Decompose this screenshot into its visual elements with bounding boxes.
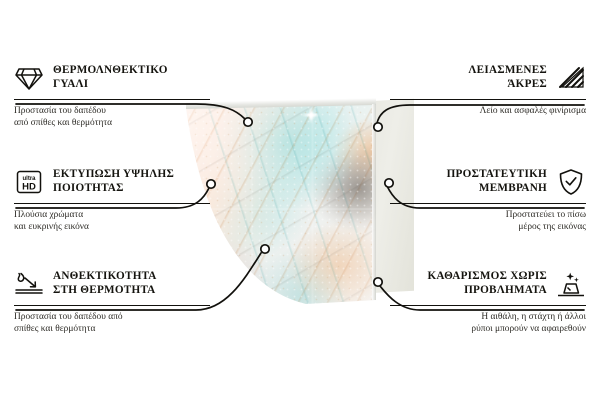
feature-header: ΑΝΘΕΚΤΙΚΟΤΗΤΑ ΣΤΗ ΘΕΡΜΟΤΗΤΑ — [14, 268, 210, 300]
feature-divider — [14, 99, 210, 100]
feature-description: Λείο και ασφαλές φινίρισμα — [390, 106, 586, 118]
feature-block-high-quality-print: ultra HD ΕΚΤΥΠΩΣΗ ΥΨΗΛΗΣ ΠΟΙΟΤΗΤΑΣ Πλούσ… — [14, 166, 210, 233]
feature-block-heat-resistant-glass: ΘΕΡΜΟΛΝΘΕΚΤΙΚΟ ΓΥΑΛΙ Προστασία του δαπέδ… — [14, 62, 210, 129]
panel-right-edge — [372, 104, 376, 300]
sponge-sparkle-icon — [556, 269, 586, 299]
feature-block-easy-cleaning: ΚΑΘΑΡΙΣΜΟΣ ΧΩΡΙΣ ΠΡΟΒΛΗΜΑΤΑ Η αιθάλη, η … — [390, 268, 586, 335]
flame-deflect-icon — [14, 269, 44, 299]
feature-divider — [390, 203, 586, 204]
feature-divider — [14, 305, 210, 306]
feature-block-heat-durability: ΑΝΘΕΚΤΙΚΟΤΗΤΑ ΣΤΗ ΘΕΡΜΟΤΗΤΑ Προστασία το… — [14, 268, 210, 335]
feature-title: ΠΡΟΣΤΑΤΕΥΤΙΚΗ ΜΕΜΒΡΑΝΗ — [447, 168, 547, 195]
feature-description: Προστασία του δαπέδου από σπίθες και θερ… — [14, 106, 210, 129]
feature-divider — [14, 203, 210, 204]
feature-description: Προστατεύει το πίσω μέρος της εικόνας — [390, 210, 586, 233]
feature-header: ΘΕΡΜΟΛΝΘΕΚΤΙΚΟ ΓΥΑΛΙ — [14, 62, 210, 94]
feature-header: ΚΑΘΑΡΙΣΜΟΣ ΧΩΡΙΣ ΠΡΟΒΛΗΜΑΤΑ — [390, 268, 586, 300]
glass-sheen-layer — [186, 104, 376, 304]
feature-block-protective-membrane: ΠΡΟΣΤΑΤΕΥΤΙΚΗ ΜΕΜΒΡΑΝΗ Προστατεύει το πί… — [390, 166, 586, 233]
feature-title: ΘΕΡΜΟΛΝΘΕΚΤΙΚΟ ΓΥΑΛΙ — [53, 64, 168, 91]
ultra-hd-large-label: HD — [22, 182, 36, 193]
feature-divider — [390, 99, 586, 100]
feature-title: ΚΑΘΑΡΙΣΜΟΣ ΧΩΡΙΣ ΠΡΟΒΛΗΜΑΤΑ — [427, 270, 547, 297]
polished-edges-icon — [556, 63, 586, 93]
feature-header: ΛΕΙΑΣΜΕΝΕΣ ΆΚΡΕΣ — [390, 62, 586, 94]
shield-check-icon — [556, 167, 586, 197]
feature-block-polished-edges: ΛΕΙΑΣΜΕΝΕΣ ΆΚΡΕΣ Λείο και ασφαλές φινίρι… — [390, 62, 586, 118]
feature-description: Πλούσια χρώματα και ευκρινής εικόνα — [14, 210, 210, 233]
feature-divider — [390, 305, 586, 306]
feature-header: ΠΡΟΣΤΑΤΕΥΤΙΚΗ ΜΕΜΒΡΑΝΗ — [390, 166, 586, 198]
diamond-icon — [14, 63, 44, 93]
feature-description: Η αιθάλη, η στάχτη ή άλλοι ρύποι μπορούν… — [390, 312, 586, 335]
glass-panel-artwork — [186, 104, 376, 304]
feature-title: ΕΚΤΥΠΩΣΗ ΥΨΗΛΗΣ ΠΟΙΟΤΗΤΑΣ — [53, 168, 174, 195]
feature-title: ΛΕΙΑΣΜΕΝΕΣ ΆΚΡΕΣ — [468, 64, 547, 91]
feature-description: Προστασία του δαπέδου από σπίθες και θερ… — [14, 312, 210, 335]
ultra-hd-icon: ultra HD — [14, 167, 44, 197]
feature-header: ultra HD ΕΚΤΥΠΩΣΗ ΥΨΗΛΗΣ ΠΟΙΟΤΗΤΑΣ — [14, 166, 210, 198]
feature-title: ΑΝΘΕΚΤΙΚΟΤΗΤΑ ΣΤΗ ΘΕΡΜΟΤΗΤΑ — [53, 270, 157, 297]
